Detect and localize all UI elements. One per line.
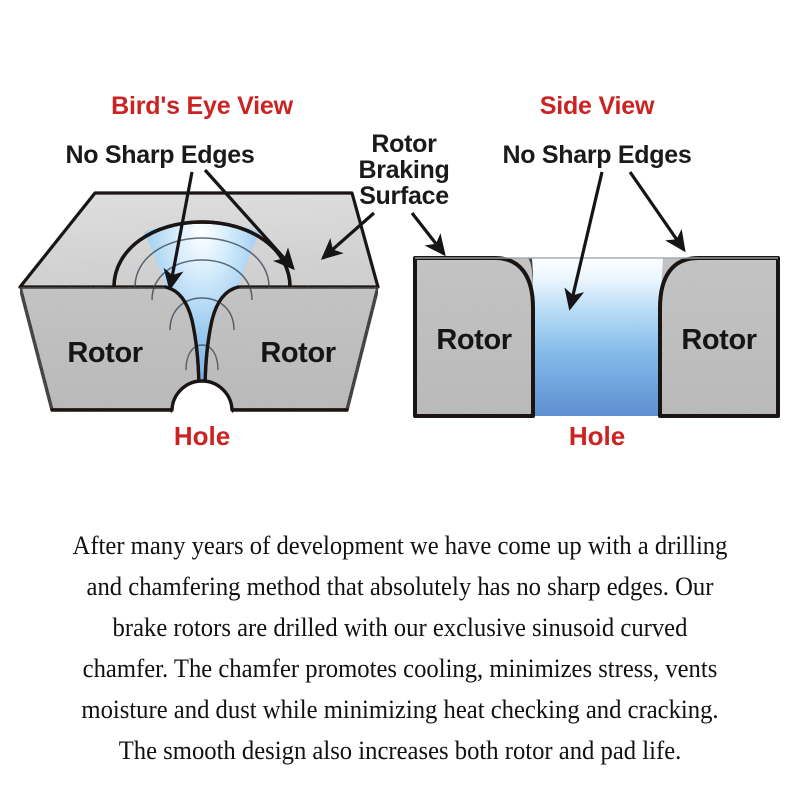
diagram-figure-area: Rotor Rotor Bird's Eye View No Sharp Edg… [0, 0, 800, 470]
side-view-no-sharp-edges-label: No Sharp Edges [503, 141, 692, 169]
braking-surface-line-2: Braking [359, 156, 450, 184]
caption-text: After many years of development we have … [39, 525, 761, 771]
braking-surface-arrow-right [412, 213, 444, 254]
side-view-hole-label: Hole [569, 421, 625, 451]
birds-eye-rotor-left-label: Rotor [67, 337, 142, 369]
birds-eye-no-sharp-edges-label: No Sharp Edges [66, 141, 255, 169]
birds-eye-view-group: Rotor Rotor Bird's Eye View No Sharp Edg… [20, 92, 378, 451]
birds-eye-title: Bird's Eye View [111, 92, 293, 120]
birds-eye-rotor-right-label: Rotor [260, 337, 335, 369]
side-view-no-sharp-edges-arrow-right [630, 172, 684, 250]
braking-surface-line-1: Rotor [371, 130, 437, 158]
rotor-chamfer-diagram: Rotor Rotor Bird's Eye View No Sharp Edg… [0, 0, 800, 470]
side-view-rotor-left-label: Rotor [436, 324, 511, 356]
side-view-group: Rotor Rotor Side View No Sharp Edges Hol… [415, 92, 778, 451]
braking-surface-line-3: Surface [359, 182, 449, 210]
side-view-title: Side View [540, 92, 655, 120]
birds-eye-hole-label: Hole [174, 421, 230, 451]
side-view-rotor-right-label: Rotor [681, 324, 756, 356]
caption-block: After many years of development we have … [0, 470, 800, 800]
